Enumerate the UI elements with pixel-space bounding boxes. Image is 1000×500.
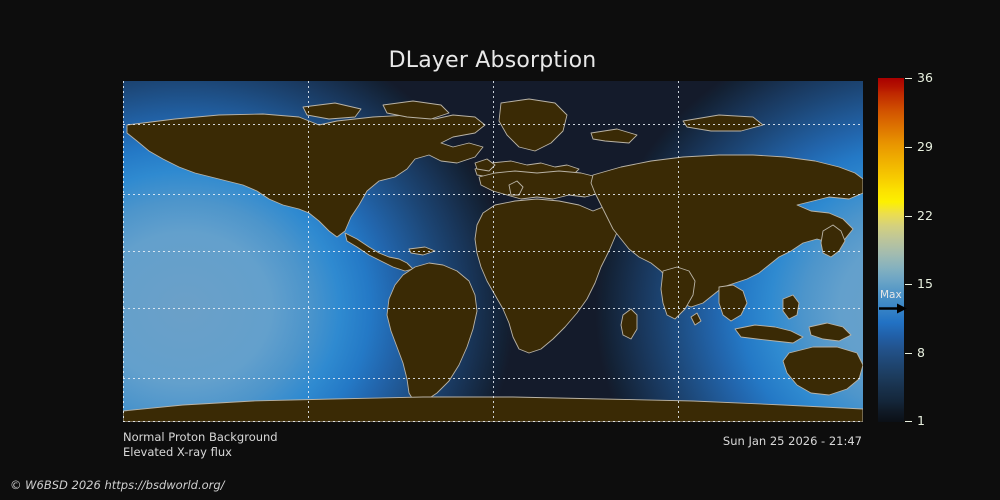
status-annotations: Normal Proton Background Elevated X-ray … (123, 430, 278, 460)
copyright-label: © W6BSD 2026 https://bsdworld.org/ (10, 478, 225, 492)
gridline-latitude (123, 308, 863, 309)
colorbar-axis-title: Affected Frequency (MHz) (930, 78, 1000, 422)
gridline-latitude (123, 124, 863, 125)
colorbar-tick-label-1: 1 (917, 415, 925, 428)
colorbar-tick (905, 78, 912, 79)
colorbar-tick-label-8: 8 (917, 347, 925, 360)
gridline-latitude (123, 421, 863, 422)
gridline-latitude (123, 251, 863, 252)
gridline-latitude (123, 378, 863, 379)
colorbar-tick (905, 353, 912, 354)
status-line-xray: Elevated X-ray flux (123, 445, 278, 460)
world-map-panel[interactable] (123, 81, 863, 422)
dlayer-absorption-app: DLayer Absorption (0, 0, 1000, 500)
status-line-proton: Normal Proton Background (123, 430, 278, 445)
page-title: DLayer Absorption (0, 48, 985, 73)
colorbar-tick (905, 421, 912, 422)
colorbar-tick (905, 284, 912, 285)
gridline-latitude (123, 194, 863, 195)
colorbar[interactable]: 36 29 22 15 8 1 Max (878, 78, 904, 422)
timestamp-label: Sun Jan 25 2026 - 21:47 (600, 434, 862, 448)
colorbar-tick (905, 147, 912, 148)
colorbar-tick (905, 216, 912, 217)
colorbar-gradient (878, 78, 904, 422)
